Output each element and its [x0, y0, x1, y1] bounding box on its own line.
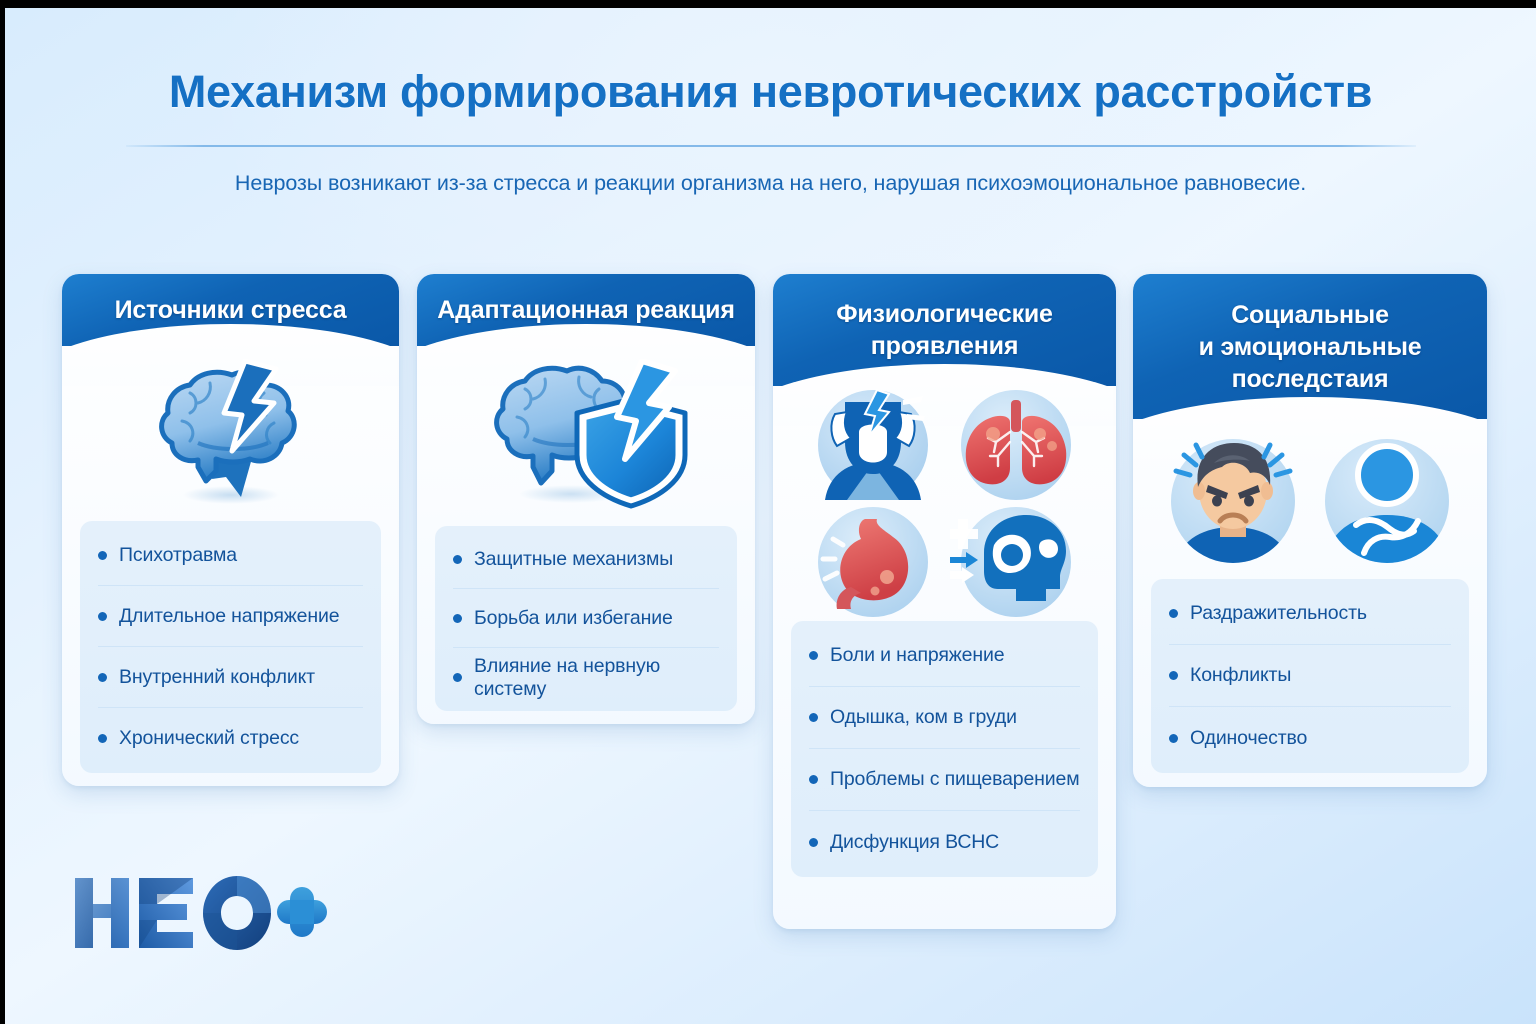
card-title: Адаптационная реакция — [437, 296, 734, 325]
list-item-label: Проблемы с пищеварением — [830, 768, 1080, 791]
card-header: Источники стресса — [62, 274, 399, 346]
list-item[interactable]: Проблемы с пищеварением — [809, 749, 1080, 811]
bullet-icon — [809, 713, 818, 722]
neo-plus-logo-mark — [71, 870, 331, 955]
bullet-icon — [453, 555, 462, 564]
list-item-label: Конфликты — [1190, 664, 1291, 687]
card-title-line1: Социальные — [1199, 299, 1422, 331]
card-adaptive-reaction[interactable]: Адаптационная реакция — [417, 274, 755, 724]
list-item[interactable]: Раздражительность — [1169, 583, 1451, 645]
bullet-icon — [98, 612, 107, 621]
list-item[interactable]: Одиночество — [1169, 707, 1451, 769]
page-subtitle: Неврозы возникают из-за стресса и реакци… — [5, 171, 1536, 196]
lungs-icon — [950, 388, 1082, 503]
list-item[interactable]: Борьба или избегание — [453, 589, 719, 648]
list-item-label: Одиночество — [1190, 727, 1307, 750]
list-item-label: Защитные механизмы — [474, 548, 673, 571]
bullet-icon — [98, 734, 107, 743]
list-item-label: Дисфункция ВСНС — [830, 831, 999, 854]
list-item[interactable]: Дисфункция ВСНС — [809, 811, 1080, 873]
card-header: Адаптационная реакция — [417, 274, 755, 346]
header: Механизм формирования невротических расс… — [5, 8, 1536, 196]
list-item[interactable]: Влияние на нервную систему — [453, 648, 719, 707]
card-icon-area — [417, 346, 755, 526]
brain-shield-lightning-icon — [479, 359, 694, 514]
card-title-line2: и эмоциональные — [1199, 331, 1422, 363]
list-item[interactable]: Длительное напряжение — [98, 586, 363, 647]
list-item[interactable]: Защитные механизмы — [453, 530, 719, 589]
bullet-icon — [453, 614, 462, 623]
card-physiological-symptoms[interactable]: Физиологические проявления — [773, 274, 1116, 929]
card-title-line1: Физиологические — [836, 298, 1053, 330]
angry-face-icon — [1158, 429, 1308, 569]
card-social-emotional-consequences[interactable]: Социальные и эмоциональные последстаия — [1133, 274, 1487, 787]
list-item-label: Психотравма — [119, 544, 237, 567]
card-icon-area — [1133, 419, 1487, 579]
list-item[interactable]: Одышка, ком в груди — [809, 687, 1080, 749]
card-title-line3: последстаия — [1199, 363, 1422, 395]
crossed-arms-person-icon — [1312, 429, 1462, 569]
list-item[interactable]: Конфликты — [1169, 645, 1451, 707]
neo-plus-logo[interactable] — [71, 870, 331, 955]
card-title-line2: проявления — [836, 330, 1053, 362]
bullet-icon — [1169, 734, 1178, 743]
title-divider — [126, 145, 1416, 147]
bullet-icon — [453, 673, 462, 682]
list-item-label: Раздражительность — [1190, 602, 1367, 625]
card-title: Источники стресса — [115, 296, 347, 325]
card-stress-sources[interactable]: Источники стресса — [62, 274, 399, 786]
bullet-icon — [98, 551, 107, 560]
list-item-label: Одышка, ком в груди — [830, 706, 1017, 729]
bullet-icon — [809, 838, 818, 847]
list-item-label: Хронический стресс — [119, 727, 299, 750]
list-item-label: Борьба или избегание — [474, 607, 673, 630]
card-icon-area — [773, 386, 1116, 621]
card-list: Боли и напряжение Одышка, ком в груди Пр… — [791, 621, 1098, 877]
card-header: Социальные и эмоциональные последстаия — [1133, 274, 1487, 419]
list-item[interactable]: Психотравма — [98, 525, 363, 586]
card-list: Психотравма Длительное напряжение Внутре… — [80, 521, 381, 773]
list-item-label: Влияние на нервную систему — [474, 655, 719, 701]
brain-lightning-icon — [146, 359, 316, 509]
page-title: Механизм формирования невротических расс… — [5, 66, 1536, 118]
card-list: Защитные механизмы Борьба или избегание … — [435, 526, 737, 711]
card-header: Физиологические проявления — [773, 274, 1116, 386]
bullet-icon — [809, 651, 818, 660]
headache-person-icon — [807, 388, 939, 503]
list-item-label: Длительное напряжение — [119, 605, 339, 628]
infographic-canvas: Механизм формирования невротических расс… — [5, 8, 1536, 1024]
bullet-icon — [1169, 671, 1178, 680]
head-eye-icon — [950, 505, 1082, 620]
card-icon-area — [62, 346, 399, 521]
bullet-icon — [1169, 609, 1178, 618]
list-item-label: Внутренний конфликт — [119, 666, 315, 689]
list-item-label: Боли и напряжение — [830, 644, 1004, 667]
list-item[interactable]: Боли и напряжение — [809, 625, 1080, 687]
stomach-icon — [807, 505, 939, 620]
card-list: Раздражительность Конфликты Одиночество — [1151, 579, 1469, 773]
bullet-icon — [98, 673, 107, 682]
bullet-icon — [809, 775, 818, 784]
list-item[interactable]: Хронический стресс — [98, 708, 363, 769]
list-item[interactable]: Внутренний конфликт — [98, 647, 363, 708]
